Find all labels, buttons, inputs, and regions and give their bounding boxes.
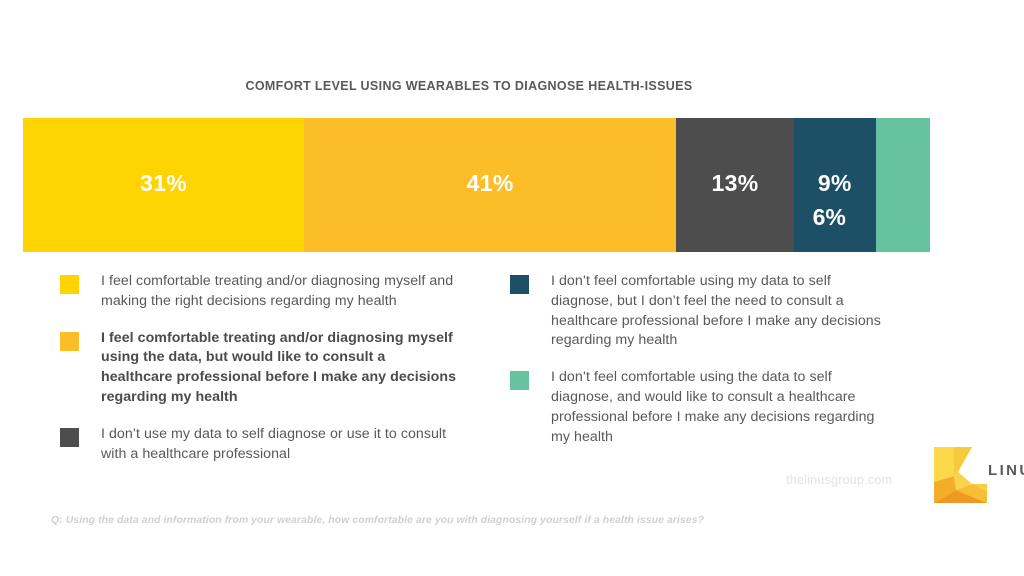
legend-item-label: I feel comfortable treating and/or diagn… bbox=[101, 329, 460, 408]
bar-segment-value-5: 6% bbox=[813, 206, 846, 229]
legend-item[interactable]: I don’t use my data to self diagnose or … bbox=[60, 425, 460, 465]
legend-item[interactable]: I don’t feel comfortable using my data t… bbox=[510, 272, 890, 351]
bar-segment-value-2: 41% bbox=[467, 172, 514, 195]
bar-segment-value-4: 9% bbox=[818, 172, 852, 195]
legend-column-left: I feel comfortable treating and/or diagn… bbox=[60, 272, 460, 481]
legend-swatch-icon bbox=[60, 428, 79, 447]
bar-segment-1: 31% bbox=[23, 118, 304, 252]
stacked-bar-chart: 31%41%13%9%6% bbox=[23, 118, 930, 252]
legend-item-label: I don’t use my data to self diagnose or … bbox=[101, 425, 460, 465]
linus-wordmark: LINUS bbox=[988, 462, 1024, 479]
bar-segment-value-1: 31% bbox=[140, 172, 187, 195]
legend-item[interactable]: I feel comfortable treating and/or diagn… bbox=[60, 272, 460, 312]
bar-segment-4: 9% bbox=[794, 118, 876, 252]
linus-l-mark-icon bbox=[934, 446, 988, 504]
page-title: COMFORT LEVEL USING WEARABLES TO DIAGNOS… bbox=[0, 79, 938, 93]
legend-item-label: I feel comfortable treating and/or diagn… bbox=[101, 272, 460, 312]
chart-legend: I feel comfortable treating and/or diagn… bbox=[0, 272, 1024, 502]
legend-item-label: I don’t feel comfortable using the data … bbox=[551, 368, 890, 447]
bar-segment-value-3: 13% bbox=[712, 172, 759, 195]
linus-logo[interactable]: LINUS bbox=[934, 446, 1016, 508]
legend-item-label: I don’t feel comfortable using my data t… bbox=[551, 272, 890, 351]
legend-item[interactable]: I don’t feel comfortable using the data … bbox=[510, 368, 890, 447]
legend-item[interactable]: I feel comfortable treating and/or diagn… bbox=[60, 329, 460, 408]
survey-question-footnote: Q: Using the data and information from y… bbox=[51, 515, 704, 526]
legend-swatch-icon bbox=[60, 275, 79, 294]
bar-segment-5: 6% bbox=[876, 118, 930, 252]
bar-segment-2: 41% bbox=[304, 118, 676, 252]
legend-swatch-icon bbox=[60, 332, 79, 351]
legend-swatch-icon bbox=[510, 371, 529, 390]
bar-segment-3: 13% bbox=[676, 118, 794, 252]
legend-swatch-icon bbox=[510, 275, 529, 294]
site-watermark: thelinusgroup.com bbox=[786, 473, 892, 487]
legend-column-right: I don’t feel comfortable using my data t… bbox=[510, 272, 890, 464]
